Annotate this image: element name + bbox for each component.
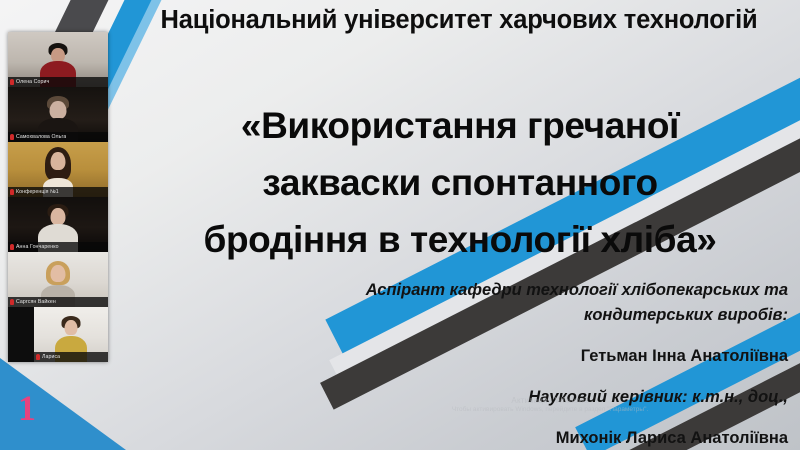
participant-face xyxy=(51,265,66,282)
video-tile[interactable]: Самохвалова Ольга xyxy=(8,87,108,142)
participant-name-bar: Анна Гончаренко xyxy=(8,242,108,252)
supervisor-role: Науковий керівник: к.т.н., доц., xyxy=(248,385,788,410)
participant-name-bar: Лариса xyxy=(34,352,108,362)
organization-title: Національний університет харчових технол… xyxy=(126,6,792,35)
presenter-role-line-1: Аспірант кафедри технології хлібопекарсь… xyxy=(248,278,788,303)
participant-face xyxy=(65,320,78,335)
participant-name-bar: Олена Сорич xyxy=(8,77,108,87)
participant-face xyxy=(51,208,66,225)
participant-name: Анна Гончаренко xyxy=(16,244,59,250)
participant-face xyxy=(51,152,66,170)
presentation-slide: Національний університет харчових технол… xyxy=(0,0,800,450)
supervisor-name: Михонік Лариса Анатоліївна xyxy=(248,426,788,450)
video-tile[interactable]: Лариса xyxy=(34,307,108,362)
participant-face xyxy=(50,101,67,119)
participant-name-bar: Саргсян Вайкен xyxy=(8,297,108,307)
author-block: Аспірант кафедри технології хлібопекарсь… xyxy=(248,278,788,450)
title-line-1: «Використання гречаної xyxy=(128,97,792,154)
microphone-muted-icon xyxy=(10,244,14,250)
participant-name-bar: Самохвалова Ольга xyxy=(8,132,108,142)
microphone-muted-icon xyxy=(10,134,14,140)
participant-name-bar: Конференція №1 xyxy=(8,187,108,197)
participant-name: Лариса xyxy=(42,354,60,360)
title-line-2: закваски спонтанного xyxy=(128,154,792,211)
video-tile[interactable]: Конференція №1 xyxy=(8,142,108,197)
page-title: «Використання гречаної закваски спонтанн… xyxy=(128,97,792,268)
microphone-muted-icon xyxy=(36,354,40,360)
video-tile[interactable]: Олена Сорич xyxy=(8,32,108,87)
microphone-muted-icon xyxy=(10,189,14,195)
title-line-3: бродіння в технології хліба» xyxy=(128,211,792,268)
video-conference-panel[interactable]: Олена Сорич Самохвалова Ольга Конференці… xyxy=(8,32,108,362)
presenter-name: Гетьман Інна Анатоліївна xyxy=(248,344,788,369)
microphone-muted-icon xyxy=(10,299,14,305)
participant-name: Конференція №1 xyxy=(16,189,59,195)
presenter-role-line-2: кондитерських виробів: xyxy=(248,303,788,328)
microphone-muted-icon xyxy=(10,79,14,85)
participant-face xyxy=(51,48,65,62)
slide-number: 1 xyxy=(18,390,36,426)
video-tile[interactable]: Анна Гончаренко xyxy=(8,197,108,252)
participant-name: Самохвалова Ольга xyxy=(16,134,66,140)
participant-name: Саргсян Вайкен xyxy=(16,299,56,305)
video-tile[interactable]: Саргсян Вайкен xyxy=(8,252,108,307)
participant-name: Олена Сорич xyxy=(16,79,49,85)
